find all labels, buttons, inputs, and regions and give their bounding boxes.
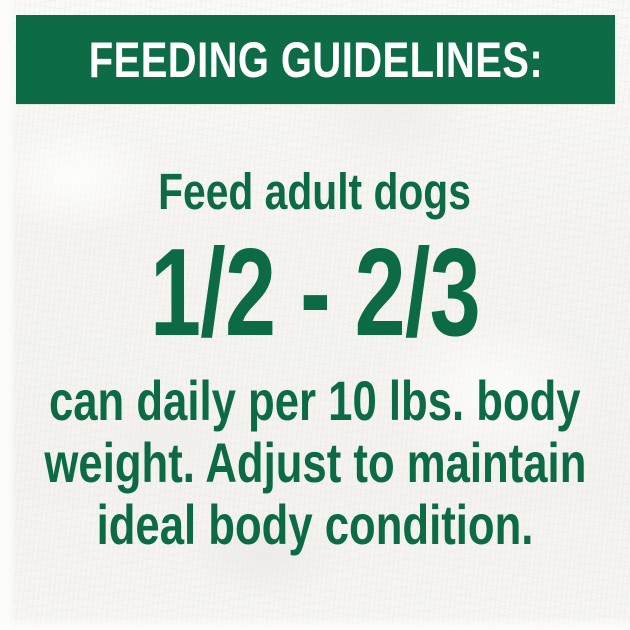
feeding-detail-line-1: can daily per 10 lbs. body xyxy=(49,373,581,429)
feeding-amount-value: 1/2 - 2/3 xyxy=(150,231,480,355)
page-title: FEEDING GUIDELINES: xyxy=(88,35,542,85)
feeding-guidelines-panel: FEEDING GUIDELINES: Feed adult dogs 1/2 … xyxy=(0,0,630,630)
feeding-detail-line-3: ideal body condition. xyxy=(97,497,534,553)
feeding-instructions-block: Feed adult dogs 1/2 - 2/3 can daily per … xyxy=(0,104,630,630)
feeding-intro-text: Feed adult dogs xyxy=(159,166,472,217)
feeding-detail-line-2: weight. Adjust to maintain xyxy=(44,435,586,491)
feeding-guidelines-banner: FEEDING GUIDELINES: xyxy=(16,15,615,104)
